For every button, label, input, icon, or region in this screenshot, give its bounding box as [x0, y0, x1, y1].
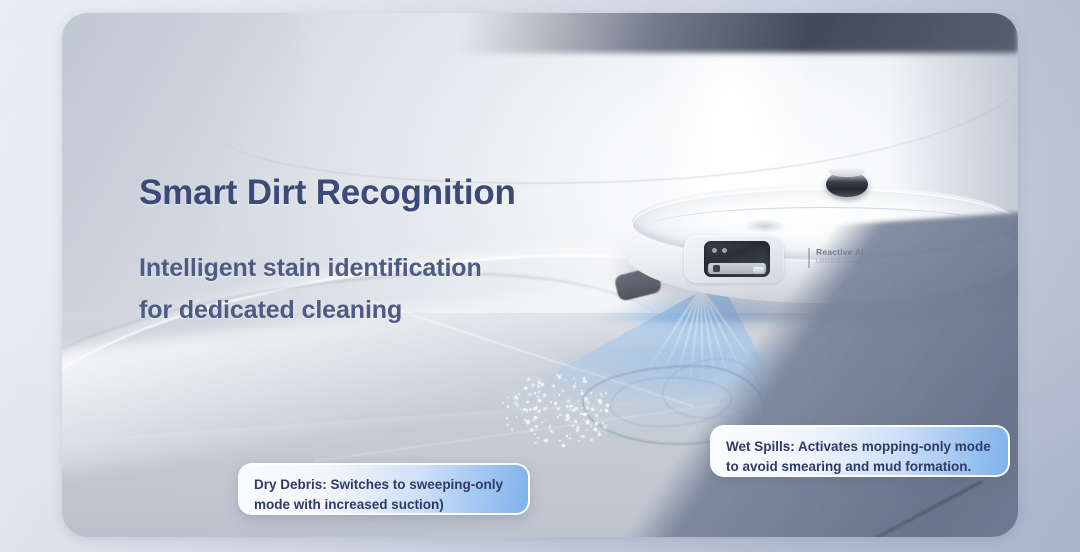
- scene-top-shadow-band: [62, 13, 1018, 53]
- debris-speck: [526, 425, 527, 426]
- callout-wet-spills: Wet Spills: Activates mopping-only mode …: [710, 425, 1010, 477]
- debris-speck: [529, 408, 532, 411]
- callout-dry-line-2: mode with increased suction): [254, 495, 514, 515]
- debris-speck: [507, 397, 508, 398]
- debris-speck: [502, 402, 504, 404]
- debris-speck: [537, 437, 539, 439]
- hero-image-card: Reactive AI Obstacle Recognition Smart D…: [62, 13, 1018, 537]
- debris-speck: [530, 428, 533, 431]
- debris-speck: [507, 424, 510, 427]
- debris-speck: [515, 395, 517, 397]
- debris-speck: [535, 425, 538, 428]
- debris-speck: [526, 409, 529, 412]
- banner-page: Reactive AI Obstacle Recognition Smart D…: [0, 0, 1080, 552]
- debris-speck: [531, 384, 534, 387]
- lidar-turret-icon: [826, 171, 868, 197]
- debris-speck: [520, 409, 521, 410]
- subtitle-line-1: Intelligent stain identification: [139, 247, 569, 289]
- debris-speck: [545, 419, 546, 420]
- debris-speck: [528, 393, 531, 396]
- debris-speck: [538, 399, 541, 402]
- debris-speck: [536, 417, 537, 418]
- debris-speck: [513, 392, 514, 393]
- debris-speck: [533, 419, 535, 421]
- debris-speck: [541, 422, 543, 424]
- debris-speck: [522, 412, 524, 414]
- page-title: Smart Dirt Recognition: [139, 173, 516, 213]
- debris-speck: [507, 405, 510, 408]
- callout-wet-line-1: Wet Spills: Activates mopping-only mode: [726, 437, 994, 457]
- debris-speck: [534, 392, 536, 394]
- debris-speck: [515, 397, 518, 400]
- debris-speck: [518, 393, 520, 395]
- callout-dry-line-1: Dry Debris: Switches to sweeping-only: [254, 475, 514, 495]
- debris-speck: [534, 442, 536, 444]
- debris-speck: [527, 378, 530, 381]
- debris-speck: [526, 420, 530, 424]
- debris-speck: [506, 417, 508, 419]
- debris-speck: [511, 428, 514, 431]
- debris-speck: [539, 391, 541, 393]
- callout-wet-line-2: to avoid smearing and mud formation.: [726, 457, 994, 477]
- page-subtitle: Intelligent stain identification for ded…: [139, 247, 569, 331]
- debris-speck: [514, 402, 517, 405]
- debris-speck: [550, 430, 552, 432]
- debris-speck: [536, 406, 538, 408]
- debris-speck: [549, 425, 551, 427]
- debris-speck: [516, 416, 518, 418]
- subtitle-line-2: for dedicated cleaning: [139, 289, 569, 331]
- debris-speck: [537, 396, 539, 398]
- debris-speck: [543, 394, 546, 397]
- debris-speck: [541, 383, 544, 386]
- debris-speck: [550, 401, 552, 403]
- scene-dark-corner: [544, 209, 1018, 537]
- debris-speck: [517, 405, 519, 407]
- debris-speck: [537, 385, 540, 388]
- debris-speck: [538, 410, 541, 413]
- debris-speck: [526, 401, 529, 404]
- callout-dry-debris: Dry Debris: Switches to sweeping-only mo…: [238, 463, 530, 515]
- debris-speck: [534, 433, 536, 435]
- debris-speck: [544, 439, 548, 443]
- debris-speck: [544, 407, 547, 410]
